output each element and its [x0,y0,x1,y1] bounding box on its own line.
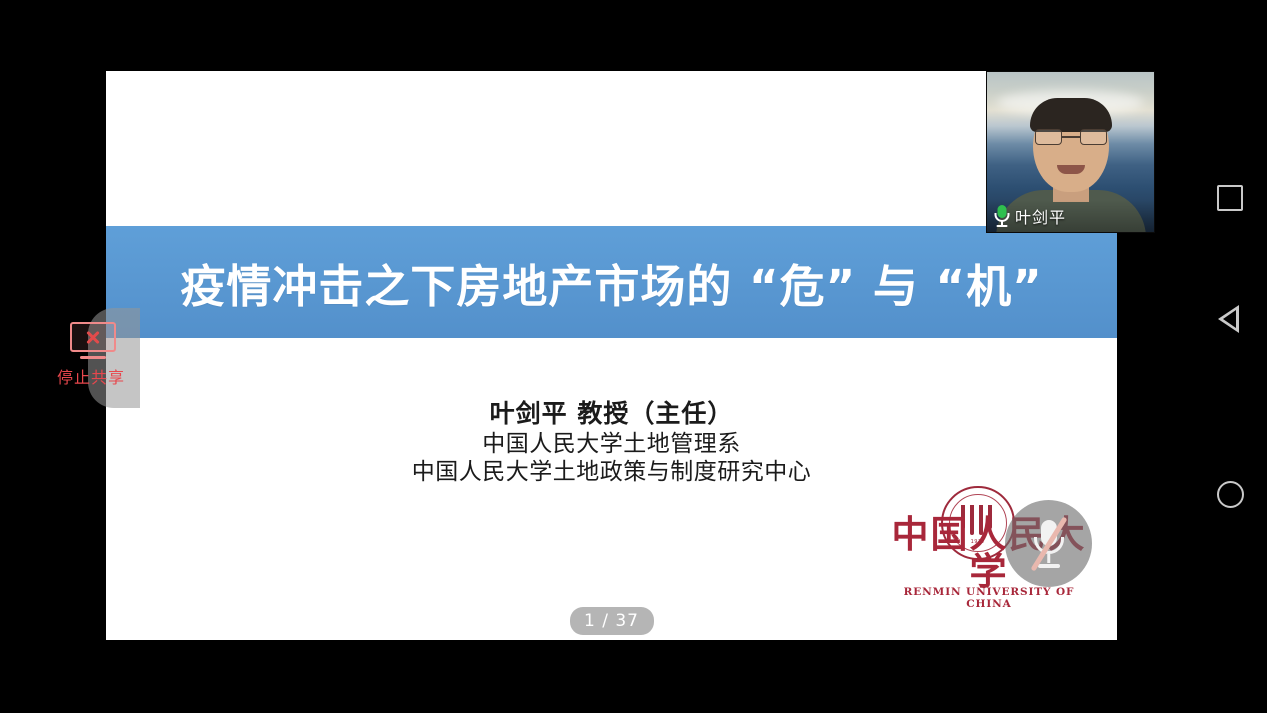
home-circle-icon [1217,481,1244,508]
presenter-affiliation-secondary: 中国人民大学土地政策与制度研究中心 [106,458,1117,487]
presenter-block: 叶剑平 教授（主任） 中国人民大学土地管理系 中国人民大学土地政策与制度研究中心 [106,398,1117,487]
university-name-en: RENMIN UNIVERSITY OF CHINA [889,586,1089,610]
participant-name-bar: 叶剑平 [987,200,1154,232]
microphone-on-icon [993,205,1010,227]
presenter-name: 叶剑平 教授（主任） [106,398,1117,430]
home-button[interactable] [1208,472,1252,516]
back-triangle-icon [1217,305,1244,332]
screen-share-off-icon [70,322,116,360]
video-thumbnail[interactable]: 叶剑平 [986,71,1155,233]
slide-title: 疫情冲击之下房地产市场的 “危” 与 “机” [180,250,1042,315]
slide-top-whitespace [106,71,1117,226]
stop-share-label: 停止共享 [42,364,140,388]
page-indicator: 1 / 37 [570,607,654,635]
presenter-affiliation-primary: 中国人民大学土地管理系 [106,430,1117,459]
slide-body: 叶剑平 教授（主任） 中国人民大学土地管理系 中国人民大学土地政策与制度研究中心… [106,338,1117,640]
microphone-muted-button[interactable] [1005,500,1092,587]
recents-square-icon [1217,185,1243,211]
participant-name: 叶剑平 [1015,204,1066,228]
slide-title-band: 疫情冲击之下房地产市场的 “危” 与 “机” [106,226,1117,338]
recents-button[interactable] [1208,176,1252,220]
back-button[interactable] [1208,296,1252,340]
shared-slide[interactable]: 疫情冲击之下房地产市场的 “危” 与 “机” 叶剑平 教授（主任） 中国人民大学… [106,71,1117,640]
device-screen: 疫情冲击之下房地产市场的 “危” 与 “机” 叶剑平 教授（主任） 中国人民大学… [0,0,1267,713]
stop-share-button[interactable]: 停止共享 [42,308,140,408]
android-navigation-bar [1193,0,1267,713]
